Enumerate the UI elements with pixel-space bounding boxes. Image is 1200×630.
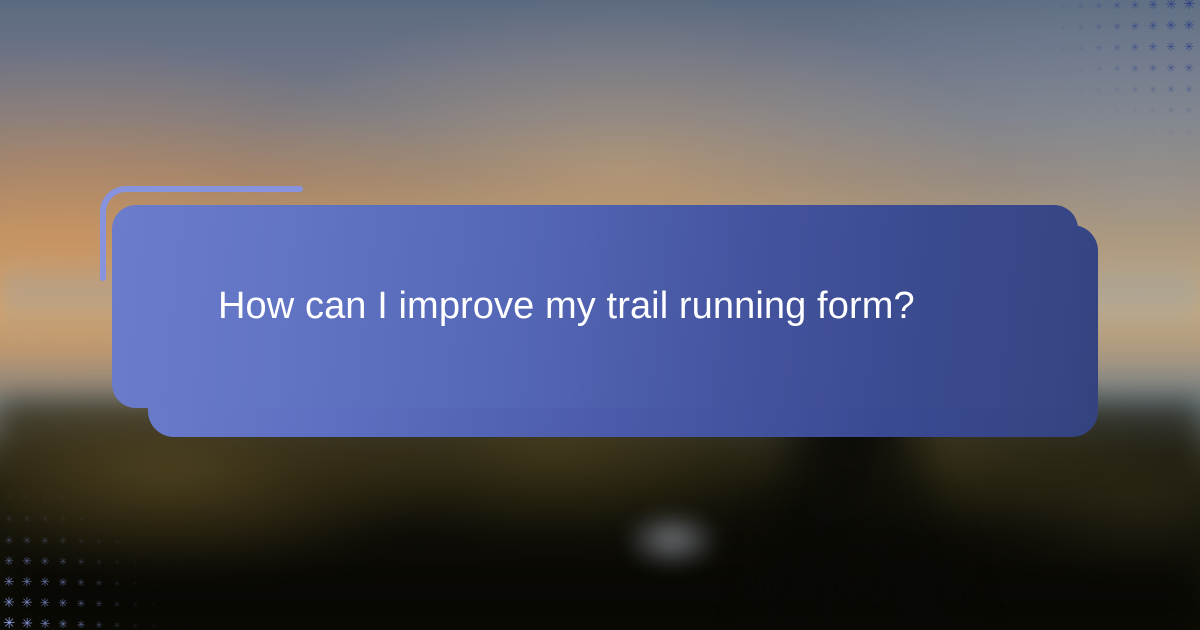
page-title: How can I improve my trail running form? [112, 283, 971, 331]
headline-card[interactable]: How can I improve my trail running form? [112, 205, 1078, 408]
poster-canvas: ✳✳✳✳✳✳✳✳✳✳✳ ✳✳✳✳✳✳✳✳✳✳✳ ✳✳✳✳✳✳✳✳✳✳✳ ✳✳✳✳… [0, 0, 1200, 630]
card-stack: How can I improve my trail running form? [0, 0, 1200, 630]
